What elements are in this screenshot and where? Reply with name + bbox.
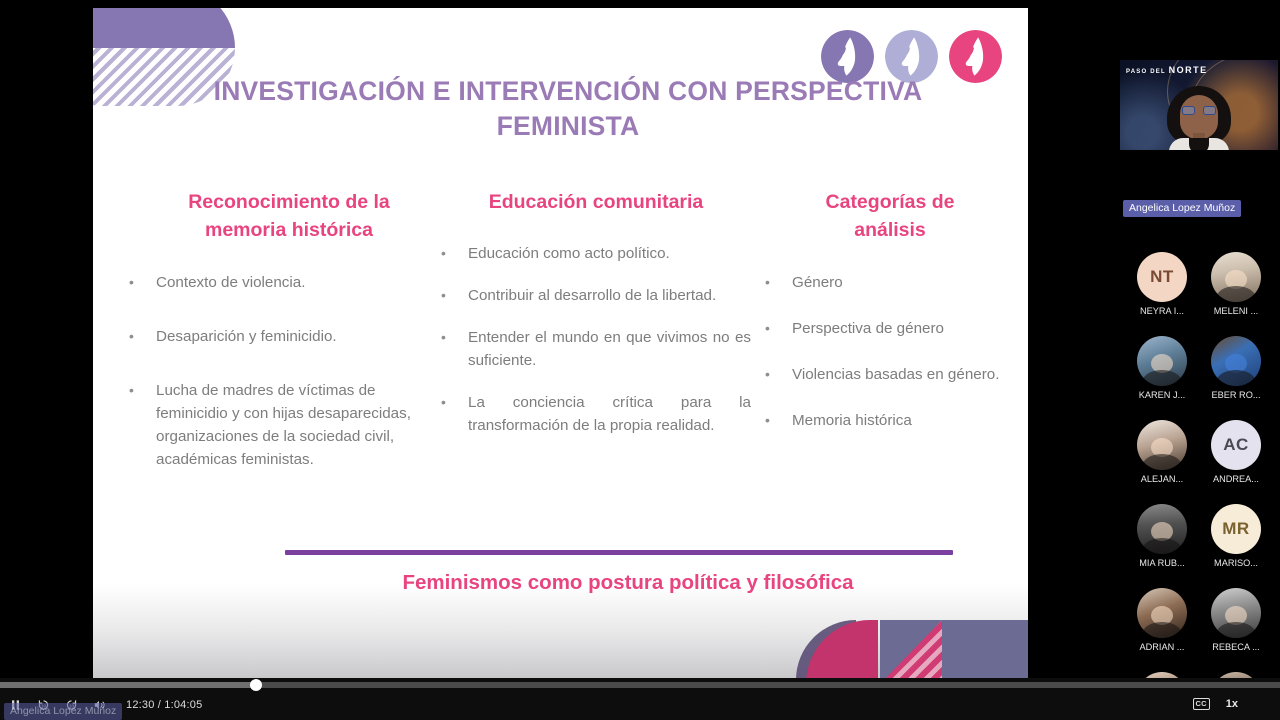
participant-tile[interactable]: MR MARISO... (1211, 504, 1261, 568)
column-heading: Categorías de análisis (765, 188, 1015, 245)
participant-name: EBER RO... (1211, 390, 1261, 400)
participant-name: ADRIAN ... (1137, 642, 1187, 652)
participant-name: KAREN J... (1137, 390, 1187, 400)
column-educacion-comunitaria: Educación comunitaria • Educación como a… (441, 188, 751, 456)
participant-name: MARISO... (1211, 558, 1261, 568)
tile-row: NT NEYRA I... MELENI ... (1118, 252, 1280, 316)
video-stage[interactable]: INVESTIGACIÓN E INTERVENCIÓN CON PERSPEC… (0, 0, 1118, 678)
participant-tile[interactable]: MIA RUB... (1137, 504, 1187, 568)
bullet-text: Violencias basadas en género. (792, 363, 999, 386)
bullet-text: La conciencia crítica para la transforma… (468, 391, 751, 437)
participant-tile[interactable]: NT NEYRA I... (1137, 252, 1187, 316)
bullet-dot-icon: • (441, 391, 468, 437)
list-item: • Educación como acto político. (441, 242, 751, 265)
bullet-dot-icon: • (129, 325, 156, 348)
participant-tile[interactable]: ADRIAN ... (1137, 588, 1187, 652)
avatar-initials: MR (1222, 519, 1249, 539)
participant-name: MIA RUB... (1137, 558, 1187, 568)
tile-row: KAREN J... EBER RO... (1118, 336, 1280, 400)
avatar[interactable] (1137, 588, 1187, 638)
bullet-text: Desaparición y feminicidio. (156, 325, 337, 348)
avatar[interactable] (1137, 420, 1187, 470)
participant-tile[interactable]: KAREN J... (1137, 336, 1187, 400)
participant-tiles: NT NEYRA I... MELENI ... KAREN J... (1118, 252, 1280, 720)
woman-profile-logo-pink (949, 30, 1002, 83)
bullet-dot-icon: • (129, 379, 156, 471)
bullet-list: • Contexto de violencia. • Desaparición … (129, 271, 449, 471)
participant-name: MELENI ... (1211, 306, 1261, 316)
participant-rail: PASO DEL NORTE Angelica Lopez Muñoz NT N… (1118, 0, 1280, 690)
bullet-text: Perspectiva de género (792, 317, 944, 340)
avatar[interactable] (1137, 504, 1187, 554)
bullet-dot-icon: • (441, 284, 468, 307)
avatar[interactable]: NT (1137, 252, 1187, 302)
bullet-text: Contexto de violencia. (156, 271, 305, 294)
bullet-dot-icon: • (129, 271, 156, 294)
video-player-page: INVESTIGACIÓN E INTERVENCIÓN CON PERSPEC… (0, 0, 1280, 720)
avatar[interactable]: MR (1211, 504, 1261, 554)
bullet-list: • Género • Perspectiva de género • Viole… (765, 271, 1015, 432)
bullet-text: Entender el mundo en que vivimos no es s… (468, 326, 751, 372)
avatar-initials: NT (1150, 267, 1174, 287)
slide-title: INVESTIGACIÓN E INTERVENCIÓN CON PERSPEC… (188, 74, 948, 144)
participant-name: ANDREA... (1211, 474, 1261, 484)
list-item: • Género (765, 271, 1015, 294)
eyeglasses-icon (1182, 106, 1216, 115)
bullet-text: Género (792, 271, 843, 294)
event-branding: PASO DEL NORTE (1126, 65, 1208, 75)
progress-bar-track[interactable] (0, 682, 1280, 688)
slide-footer-text: Feminismos como postura política y filos… (278, 568, 978, 599)
active-speaker-name-tag: Angelica Lopez Muñoz (1123, 200, 1241, 217)
progress-bar-fill (0, 682, 256, 688)
list-item: • Desaparición y feminicidio. (129, 325, 449, 348)
avatar[interactable] (1211, 336, 1261, 386)
participant-tile[interactable]: AC ANDREA... (1211, 420, 1261, 484)
cc-button[interactable]: CC (1193, 698, 1210, 710)
horizontal-divider (285, 550, 953, 555)
bullet-text: Lucha de madres de víctimas de feminicid… (156, 379, 449, 471)
list-item: • Memoria histórica (765, 409, 1015, 432)
bullet-dot-icon: • (765, 363, 792, 386)
player-controls-bar: 10 10 12:30 / 1:04:05 CC 1x (0, 678, 1280, 720)
bullet-dot-icon: • (441, 326, 468, 372)
avatar-initials: AC (1223, 435, 1249, 455)
bullet-text: Contribuir al desarrollo de la libertad. (468, 284, 716, 307)
avatar[interactable] (1211, 588, 1261, 638)
list-item: • Violencias basadas en género. (765, 363, 1015, 386)
tile-row: MIA RUB... MR MARISO... (1118, 504, 1280, 568)
speaker-figure (1167, 86, 1231, 150)
column-heading: Educación comunitaria (441, 188, 751, 216)
timecode-label: 12:30 / 1:04:05 (126, 699, 202, 711)
bullet-list: • Educación como acto político. • Contri… (441, 242, 751, 437)
avatar[interactable] (1211, 252, 1261, 302)
bullet-dot-icon: • (765, 271, 792, 294)
participant-tile[interactable]: EBER RO... (1211, 336, 1261, 400)
bullet-dot-icon: • (441, 242, 468, 265)
participant-name: NEYRA I... (1137, 306, 1187, 316)
presentation-slide: INVESTIGACIÓN E INTERVENCIÓN CON PERSPEC… (93, 8, 1028, 678)
participant-tile[interactable]: ALEJAN... (1137, 420, 1187, 484)
column-categorias-de-analisis: Categorías de análisis • Género • Perspe… (765, 188, 1015, 455)
list-item: • Lucha de madres de víctimas de feminic… (129, 379, 449, 471)
avatar[interactable] (1137, 336, 1187, 386)
participant-tile[interactable]: REBECA ... (1211, 588, 1261, 652)
list-item: • La conciencia crítica para la transfor… (441, 391, 751, 437)
participant-name: REBECA ... (1211, 642, 1261, 652)
list-item: • Contexto de violencia. (129, 271, 449, 294)
column-heading: Reconocimiento de la memoria histórica (129, 188, 449, 245)
list-item: • Contribuir al desarrollo de la liberta… (441, 284, 751, 307)
tile-row: ALEJAN... AC ANDREA... (1118, 420, 1280, 484)
tile-row: ADRIAN ... REBECA ... (1118, 588, 1280, 652)
bullet-text: Educación como acto político. (468, 242, 670, 265)
avatar[interactable]: AC (1211, 420, 1261, 470)
list-item: • Entender el mundo en que vivimos no es… (441, 326, 751, 372)
playback-speed-button[interactable]: 1x (1226, 698, 1238, 710)
progress-scrubber-handle[interactable] (250, 679, 262, 691)
active-speaker-video[interactable]: PASO DEL NORTE (1120, 60, 1278, 150)
list-item: • Perspectiva de género (765, 317, 1015, 340)
bullet-dot-icon: • (765, 317, 792, 340)
participant-name: ALEJAN... (1137, 474, 1187, 484)
decorative-shapes-bottom-right (788, 606, 1028, 678)
participant-tile[interactable]: MELENI ... (1211, 252, 1261, 316)
bullet-dot-icon: • (765, 409, 792, 432)
fading-speaker-name-overlay: Angelica Lopez Muñoz (4, 703, 122, 720)
player-right-controls: CC 1x (1193, 698, 1270, 710)
bullet-text: Memoria histórica (792, 409, 912, 432)
column-memoria-historica: Reconocimiento de la memoria histórica •… (129, 188, 449, 502)
